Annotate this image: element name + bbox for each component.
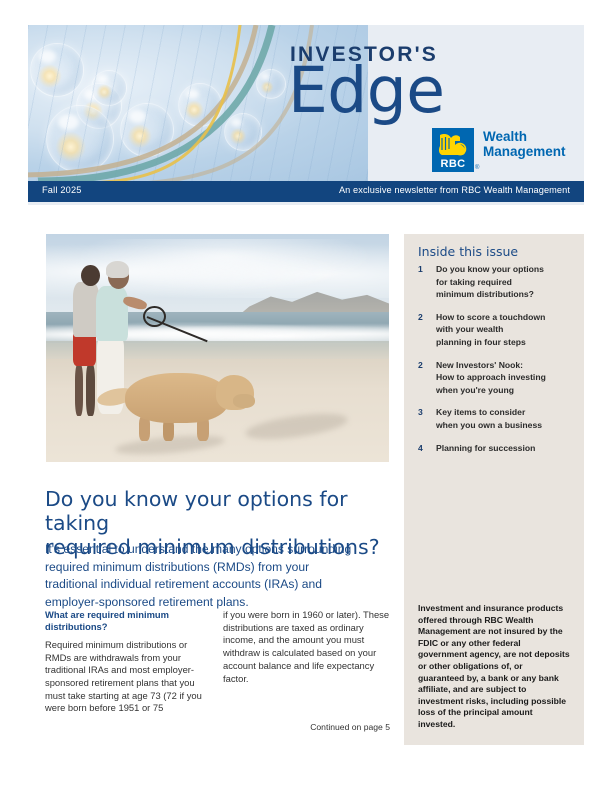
decorative-bubble <box>91 70 127 106</box>
decorative-bubble <box>224 113 262 151</box>
toc-entry-label: Planning for succession <box>436 442 535 455</box>
toc-list: 1 Do you know your options for taking re… <box>418 263 574 464</box>
photo-man-shorts <box>73 332 96 366</box>
toc-page-number: 2 <box>418 359 436 397</box>
article-body-right: if you were born in 1960 or later). Thes… <box>223 609 390 685</box>
issue-date: Fall 2025 <box>42 185 82 195</box>
continued-note[interactable]: Continued on page 5 <box>223 722 390 732</box>
decorative-bubble <box>30 43 84 97</box>
decorative-bubble <box>256 69 286 99</box>
toc-page-number: 1 <box>418 263 436 301</box>
brand-line-1: Wealth <box>483 129 566 144</box>
issue-banner: Fall 2025 An exclusive newsletter from R… <box>28 181 584 202</box>
toc-entry[interactable]: 2 New Investors' Nook: How to approach i… <box>418 359 574 397</box>
photo-dog-body <box>125 373 228 423</box>
toc-entry[interactable]: 2 How to score a touchdown with your wea… <box>418 311 574 349</box>
article-column-left: What are required minimum distributions?… <box>45 609 210 715</box>
toc-entry[interactable]: 1 Do you know your options for taking re… <box>418 263 574 301</box>
article-subhead: What are required minimum distributions? <box>45 609 210 634</box>
article-column-right: if you were born in 1960 or later). Thes… <box>223 609 390 685</box>
toc-entry[interactable]: 4 Planning for succession <box>418 442 574 455</box>
photo-man-leg <box>75 364 84 416</box>
decorative-bubble <box>76 83 122 129</box>
toc-page-number: 4 <box>418 442 436 455</box>
brand-line-2: Management <box>483 144 566 159</box>
photo-man-leg <box>86 364 95 416</box>
toc-entry-label: Key items to consider when you own a bus… <box>436 406 542 431</box>
masthead-title-large: Edge <box>288 59 445 122</box>
photo-woman-top <box>96 286 128 341</box>
decorative-bubble <box>46 105 114 173</box>
photo-woman-hair <box>106 261 129 278</box>
toc-entry-label: How to score a touchdown with your wealt… <box>436 311 545 349</box>
toc-entry-label: Do you know your options for taking requ… <box>436 263 544 301</box>
article-body-left: Required minimum distributions or RMDs a… <box>45 639 210 715</box>
wealth-management-brand: Wealth Management <box>483 129 566 159</box>
masthead: INVESTOR'S Edge RBC ® Wealth Management <box>28 25 584 205</box>
decorative-bubble <box>120 103 174 157</box>
rbc-lion-shield-icon <box>437 132 469 158</box>
toc-entry-label: New Investors' Nook: How to approach inv… <box>436 359 546 397</box>
toc-page-number: 2 <box>418 311 436 349</box>
disclosure-text: Investment and insurance products offere… <box>418 603 570 731</box>
article-lead-paragraph: It's essential to understand the many op… <box>45 541 390 611</box>
registered-trademark-icon: ® <box>475 165 479 171</box>
decorative-bubble <box>178 83 222 127</box>
hero-photo-beach-couple-dog <box>46 234 389 462</box>
toc-entry[interactable]: 3 Key items to consider when you own a b… <box>418 406 574 431</box>
inside-this-issue-panel: Inside this issue 1 Do you know your opt… <box>404 234 584 591</box>
photo-dog-snout <box>233 394 255 409</box>
inside-this-issue-title: Inside this issue <box>418 244 518 259</box>
issue-tagline: An exclusive newsletter from RBC Wealth … <box>339 185 570 195</box>
rbc-logo: RBC ® <box>432 128 474 172</box>
toc-page-number: 3 <box>418 406 436 431</box>
rbc-logo-wordmark: RBC <box>432 158 474 170</box>
disclosure-panel: Investment and insurance products offere… <box>404 591 584 745</box>
